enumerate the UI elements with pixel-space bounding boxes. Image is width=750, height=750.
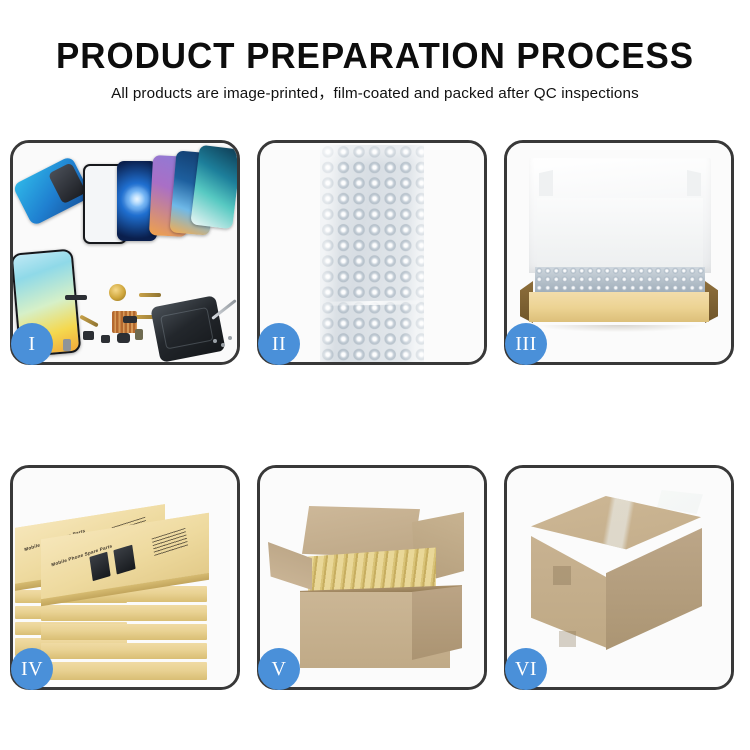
page-subtitle: All products are image-printed，film-coat…	[0, 76, 750, 103]
box-tray-front	[529, 292, 709, 322]
step-badge-3: III	[505, 323, 547, 365]
part-screw-3	[228, 336, 232, 340]
box-drop-shadow	[537, 325, 701, 332]
part-camera-module	[117, 333, 130, 343]
part-speaker-strip	[65, 295, 87, 300]
stacked-box-front-7	[41, 624, 207, 640]
part-screw-2	[221, 343, 225, 347]
part-vibration-coil	[109, 284, 126, 301]
stacked-box-front-6	[41, 605, 207, 621]
stacked-box-front-8	[41, 643, 207, 659]
bubble-wrapped-contents	[535, 267, 705, 293]
page-title: PRODUCT PREPARATION PROCESS	[11, 0, 739, 76]
part-sim-tray	[63, 339, 71, 351]
process-step-1[interactable]: I	[10, 140, 240, 365]
stacked-box-front-9	[41, 662, 207, 680]
step-badge-5: V	[258, 648, 300, 690]
step-badge-6: VI	[505, 648, 547, 690]
step-badge-1: I	[11, 323, 53, 365]
process-step-5[interactable]: V	[257, 465, 487, 690]
part-connector-1	[83, 331, 94, 340]
process-step-6[interactable]: VI	[504, 465, 734, 690]
process-step-2[interactable]: II	[257, 140, 487, 365]
carton-hand-hole-lower	[559, 631, 576, 647]
process-step-4[interactable]: Mobile Phone Spare Parts Mobile Phone Sp…	[10, 465, 240, 690]
part-screw-1	[213, 339, 217, 343]
page-header: PRODUCT PREPARATION PROCESS All products…	[0, 0, 750, 120]
part-battery-cell	[135, 329, 143, 340]
step-badge-2: II	[258, 323, 300, 365]
box-inner-wall	[537, 198, 703, 276]
blue-frame-phone	[13, 156, 92, 227]
step-badge-4: IV	[11, 648, 53, 690]
part-phone-back-panel	[150, 295, 225, 362]
process-step-3[interactable]: III	[504, 140, 734, 365]
process-step-grid: I II III	[10, 140, 740, 690]
carton-hand-hole-upper	[553, 566, 571, 585]
box-lid-tab-left	[539, 170, 553, 196]
carton-right-face	[412, 586, 462, 660]
part-flex-cable-3	[79, 315, 99, 328]
box-lid-tab-right	[687, 170, 701, 196]
box-screen-image-front-1	[89, 552, 110, 582]
part-chip	[123, 316, 137, 323]
bubble-wrap-sheet	[320, 145, 424, 362]
part-connector-2	[101, 335, 110, 343]
part-flex-cable-1	[139, 293, 161, 297]
